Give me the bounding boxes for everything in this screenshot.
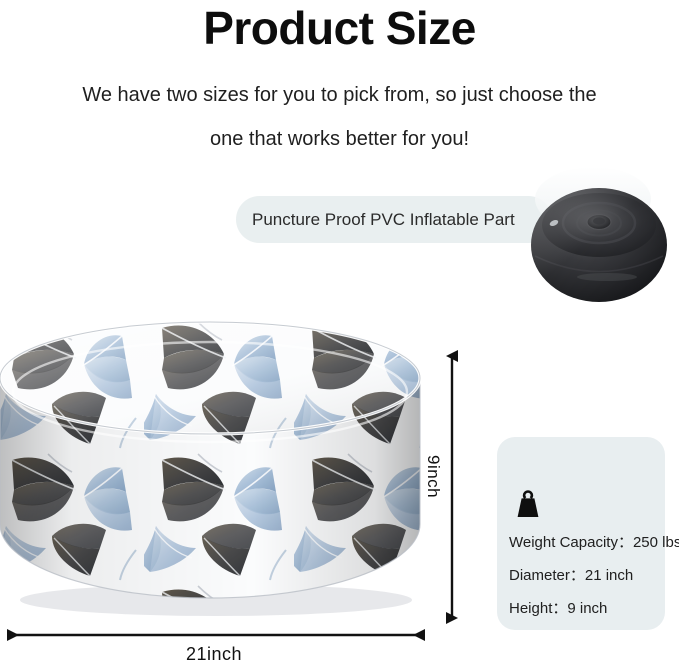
subtitle-line-2: one that works better for you! <box>0 124 679 154</box>
weight-icon <box>511 487 545 521</box>
spec-row-weight-capacity: Weight Capacity：250 lbs <box>509 534 679 552</box>
page-title: Product Size <box>0 2 679 54</box>
ottoman-product-image <box>0 318 426 624</box>
spec-row-height: Height：9 inch <box>509 600 607 618</box>
spec-card: Weight Capacity：250 lbs Diameter：21 inch… <box>497 437 665 630</box>
callout-pill: Puncture Proof PVC Inflatable Part <box>236 196 552 243</box>
subtitle-line-1: We have two sizes for you to pick from, … <box>0 80 679 110</box>
width-dimension-arrow <box>4 624 428 646</box>
width-dimension-label: 21inch <box>0 644 428 665</box>
insert-gloss <box>531 188 667 302</box>
spec-label-diameter: Diameter： <box>509 567 585 584</box>
inflatable-insert-image <box>521 163 679 309</box>
spec-value-weight-capacity: 250 lbs <box>633 534 679 551</box>
spec-row-diameter: Diameter：21 inch <box>509 567 633 585</box>
height-dimension-label: 9inch <box>423 455 443 515</box>
spec-value-height: 9 inch <box>567 600 607 617</box>
callout-pill-label: Puncture Proof PVC Inflatable Part <box>252 196 515 243</box>
insert-bottom-reflection <box>577 273 637 281</box>
spec-value-diameter: 21 inch <box>585 567 633 584</box>
spec-label-height: Height： <box>509 600 567 617</box>
spec-label-weight-capacity: Weight Capacity： <box>509 534 633 551</box>
